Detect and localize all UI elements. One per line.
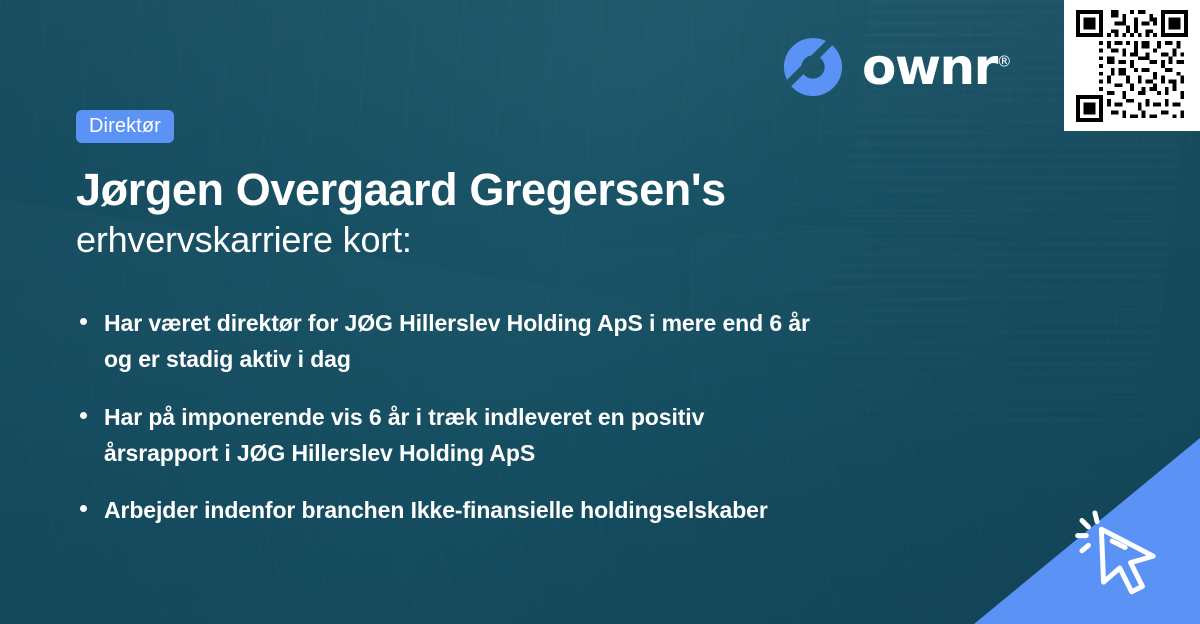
brand-logo[interactable]: ownr® [782,36,1012,98]
list-item: Arbejder indenfor branchen Ikke-finansie… [76,492,936,528]
career-facts-list: Har været direktør for JØG Hillerslev Ho… [76,305,936,529]
list-item-text: Har været direktør for JØG Hillerslev Ho… [104,310,810,372]
registered-mark: ® [997,52,1012,70]
list-item: Har været direktør for JØG Hillerslev Ho… [76,305,816,378]
page-subtitle: erhvervskarriere kort: [76,218,976,261]
bullet-dot-icon [80,412,87,419]
list-item-text: Arbejder indenfor branchen Ikke-finansie… [104,497,768,523]
corner-accent [974,438,1200,624]
list-item: Har på imponerende vis 6 år i træk indle… [76,399,816,472]
business-card: ownr® Direktør Jørgen Overgaard Gregerse… [0,0,1200,624]
qr-code-panel[interactable] [1064,0,1200,131]
page-title: Jørgen Overgaard Gregersen's [76,165,976,215]
brand-name: ownr [862,38,997,96]
bullet-dot-icon [80,318,87,325]
brand-wordmark: ownr® [862,42,1012,92]
bullet-dot-icon [80,505,87,512]
role-badge: Direktør [76,110,174,143]
click-cursor-icon[interactable] [1064,500,1182,608]
ownr-circle-mark-icon [782,36,844,98]
list-item-text: Har på imponerende vis 6 år i træk indle… [104,404,704,466]
qr-code-icon[interactable] [1073,10,1191,122]
headline-block: Direktør Jørgen Overgaard Gregersen's er… [76,110,976,262]
